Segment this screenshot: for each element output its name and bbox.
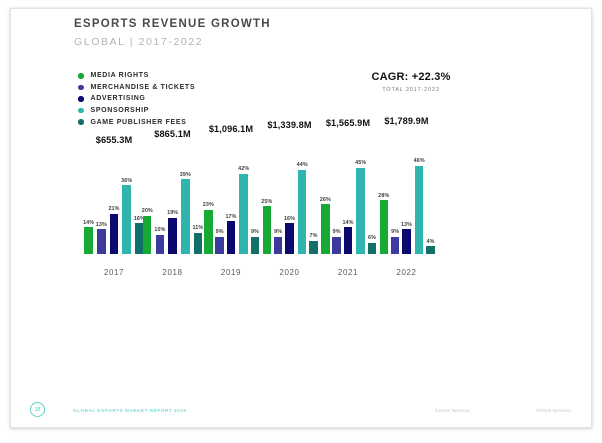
bar-2018-0[interactable]: 20% (142, 208, 153, 254)
footer-report-label: GLOBAL ESPORTS MARKET REPORT 2019 (73, 408, 187, 413)
legend-swatch-icon (78, 73, 84, 79)
bar-2020-3[interactable]: 44% (297, 162, 308, 254)
legend-swatch-icon (78, 96, 84, 102)
bar-percent-label: 36% (121, 178, 132, 184)
bar-percent-label: 9% (333, 229, 341, 235)
slide-page: ESPORTS REVENUE GROWTH GLOBAL | 2017-202… (10, 8, 592, 428)
legend-item-2[interactable]: ADVERTISING (78, 93, 195, 105)
legend-item-label: ADVERTISING (91, 95, 146, 102)
legend-item-0[interactable]: MEDIA RIGHTS (78, 70, 195, 82)
bar-percent-label: 4% (427, 239, 435, 245)
bar-percent-label: 23% (203, 202, 214, 208)
bar-2018-2[interactable]: 19% (167, 210, 178, 254)
bar-rect (402, 229, 410, 254)
bar-2017-1[interactable]: 13% (96, 222, 107, 254)
bar-group-2021: 26%9%14%45%6%$1,565.9M (320, 160, 376, 254)
bar-rect (194, 233, 202, 254)
bar-2020-4[interactable]: 7% (309, 233, 317, 254)
x-axis-tick-2018: 2018 (145, 268, 201, 277)
bar-2021-4[interactable]: 6% (368, 235, 376, 254)
bar-rect (298, 170, 306, 254)
bar-2018-1[interactable]: 10% (154, 227, 165, 254)
bar-rect (356, 168, 364, 254)
bar-percent-label: 11% (192, 225, 203, 231)
bar-percent-label: 13% (401, 222, 412, 228)
bar-2017-3[interactable]: 36% (121, 178, 132, 254)
group-total-label: $1,789.9M (347, 116, 467, 126)
bar-rect (309, 241, 317, 254)
bar-2021-2[interactable]: 14% (342, 220, 353, 254)
bar-rect (344, 227, 352, 254)
bar-percent-label: 10% (154, 227, 165, 233)
bar-2021-1[interactable]: 9% (332, 229, 340, 254)
bar-group-2022: 28%9%13%46%4%$1,789.9M (379, 158, 435, 254)
legend-item-1[interactable]: MERCHANDISE & TICKETS (78, 82, 195, 94)
bar-rect (251, 237, 259, 254)
bar-rect (181, 179, 189, 254)
bar-percent-label: 19% (167, 210, 178, 216)
legend-item-label: MEDIA RIGHTS (91, 72, 150, 79)
bar-2018-3[interactable]: 39% (180, 172, 191, 254)
bar-2019-3[interactable]: 42% (238, 166, 249, 254)
cagr-subtitle: TOTAL 2017-2022 (363, 87, 459, 93)
bar-2017-0[interactable]: 14% (83, 220, 94, 254)
bar-2022-0[interactable]: 28% (378, 193, 389, 254)
bar-percent-label: 16% (284, 216, 295, 222)
x-axis-tick-2022: 2022 (379, 268, 435, 277)
cagr-callout: CAGR: +22.3% TOTAL 2017-2022 (363, 71, 459, 93)
bar-rect (84, 227, 92, 254)
bar-rect (332, 237, 340, 254)
bar-2017-2[interactable]: 21% (108, 206, 119, 254)
bar-percent-label: 46% (414, 158, 425, 164)
page-subtitle: GLOBAL | 2017-2022 (74, 36, 271, 48)
bar-rect (204, 210, 212, 254)
bar-percent-label: 9% (251, 229, 259, 235)
bar-percent-label: 28% (378, 193, 389, 199)
bar-chart-plot: 14%13%21%36%16%$655.3M201720%10%19%39%11… (74, 121, 474, 281)
bar-percent-label: 7% (310, 233, 318, 239)
bar-percent-label: 6% (368, 235, 376, 241)
x-axis-tick-2020: 2020 (262, 268, 318, 277)
bar-group-2020: 25%9%16%44%7%$1,339.8M (262, 162, 318, 254)
bar-2018-4[interactable]: 11% (192, 225, 203, 254)
bar-percent-label: 14% (342, 220, 353, 226)
footer-copyright-right: ©2019 Newzoo (536, 408, 571, 413)
bar-2020-0[interactable]: 25% (261, 199, 272, 254)
bar-2021-3[interactable]: 45% (355, 160, 366, 254)
bar-rect (380, 200, 388, 254)
page-number-badge: 38 (30, 402, 45, 417)
bar-rect (143, 216, 151, 254)
bar-rect (426, 246, 434, 254)
legend-swatch-icon (78, 108, 84, 114)
bar-rect (263, 206, 271, 254)
legend-swatch-icon (78, 85, 84, 91)
bar-percent-label: 9% (274, 229, 282, 235)
bar-rect (168, 218, 176, 254)
bar-2021-0[interactable]: 26% (320, 197, 331, 254)
x-axis-tick-2019: 2019 (203, 268, 259, 277)
bar-percent-label: 9% (216, 229, 224, 235)
legend-item-3[interactable]: SPONSORSHIP (78, 105, 195, 117)
bar-2022-2[interactable]: 13% (401, 222, 412, 254)
bar-rect (368, 243, 376, 254)
bar-percent-label: 14% (83, 220, 94, 226)
bar-2019-0[interactable]: 23% (203, 202, 214, 254)
page-title: ESPORTS REVENUE GROWTH (74, 18, 271, 30)
bar-group-2018: 20%10%19%39%11%$865.1M (145, 172, 201, 254)
cagr-value: CAGR: +22.3% (363, 71, 459, 83)
bar-percent-label: 9% (391, 229, 399, 235)
x-axis-tick-2017: 2017 (86, 268, 142, 277)
bar-percent-label: 20% (142, 208, 153, 214)
bar-rect (285, 223, 293, 254)
chart-legend: MEDIA RIGHTSMERCHANDISE & TICKETSADVERTI… (78, 70, 195, 128)
bar-2020-2[interactable]: 16% (284, 216, 295, 254)
bar-rect (415, 166, 423, 254)
bar-2019-2[interactable]: 17% (225, 214, 236, 254)
bar-rect (274, 237, 282, 254)
page-footer: 38 GLOBAL ESPORTS MARKET REPORT 2019 ©20… (11, 393, 593, 427)
legend-item-label: MERCHANDISE & TICKETS (91, 84, 196, 91)
bar-rect (156, 235, 164, 254)
bar-2020-1[interactable]: 9% (274, 229, 282, 254)
bar-2019-4[interactable]: 9% (251, 229, 259, 254)
bar-percent-label: 45% (355, 160, 366, 166)
bar-percent-label: 26% (320, 197, 331, 203)
bar-rect (97, 229, 105, 254)
bar-percent-label: 42% (238, 166, 249, 172)
bar-percent-label: 13% (96, 222, 107, 228)
bar-percent-label: 25% (261, 199, 272, 205)
bar-2022-4[interactable]: 4% (426, 239, 434, 254)
bar-rect (227, 221, 235, 254)
bar-2022-1[interactable]: 9% (391, 229, 399, 254)
bar-rect (321, 204, 329, 254)
bar-rect (239, 174, 247, 254)
bar-2019-1[interactable]: 9% (215, 229, 223, 254)
bar-group-2019: 23%9%17%42%9%$1,096.1M (203, 166, 259, 254)
bar-rect (215, 237, 223, 254)
bar-percent-label: 21% (108, 206, 119, 212)
bar-group-2017: 14%13%21%36%16%$655.3M (86, 178, 142, 254)
bar-percent-label: 44% (297, 162, 308, 168)
bar-2022-3[interactable]: 46% (414, 158, 425, 254)
bar-percent-label: 39% (180, 172, 191, 178)
bar-percent-label: 17% (225, 214, 236, 220)
title-block: ESPORTS REVENUE GROWTH GLOBAL | 2017-202… (74, 18, 271, 48)
legend-item-label: SPONSORSHIP (91, 107, 150, 114)
bar-rect (110, 214, 118, 254)
bar-rect (122, 185, 130, 254)
bar-rect (391, 237, 399, 254)
x-axis-tick-2021: 2021 (320, 268, 376, 277)
footer-copyright-left: ©2019 Newzoo (435, 408, 470, 413)
